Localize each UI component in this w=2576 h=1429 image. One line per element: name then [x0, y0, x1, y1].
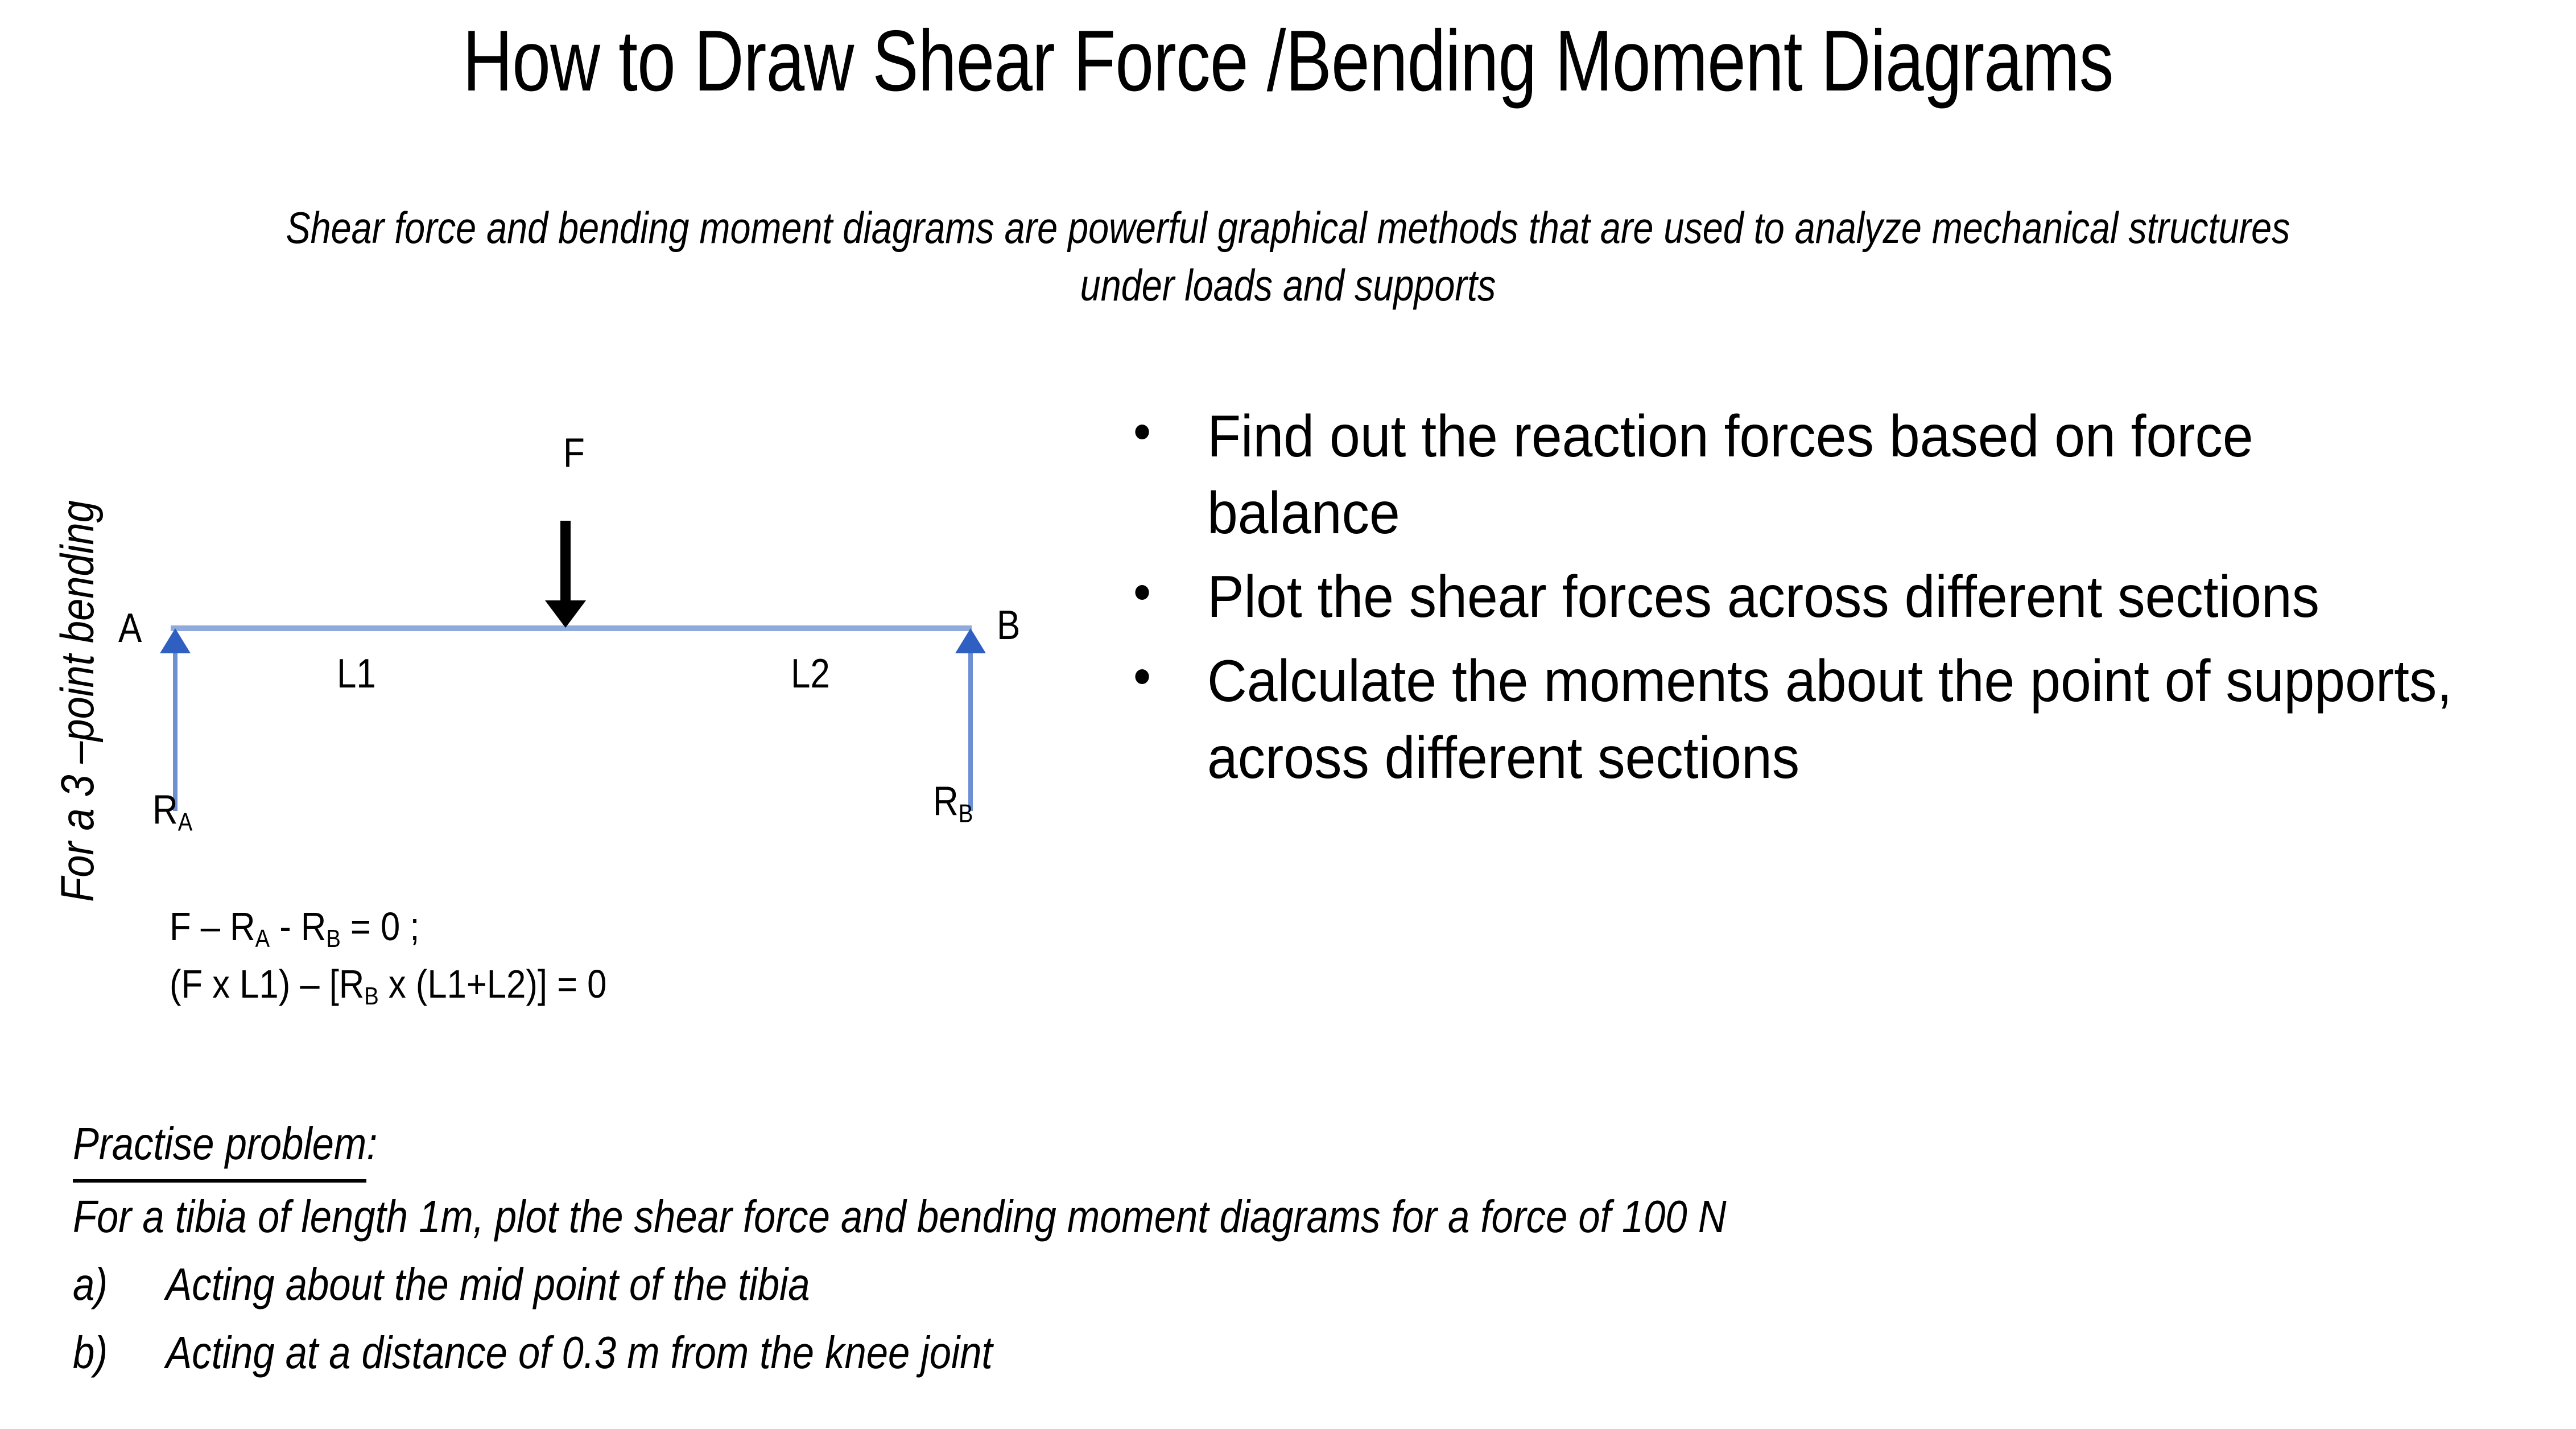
support-b-label: B — [997, 605, 1020, 646]
reaction-a-label: RA — [152, 789, 192, 835]
force-arrow-head-icon — [545, 600, 586, 628]
practise-problem-item-b: b) Acting at a distance of 0.3 m from th… — [73, 1319, 2177, 1386]
slide-canvas: How to Draw Shear Force /Bending Moment … — [0, 0, 2576, 1429]
beam-diagram: F A B L1 L2 RA RB — [0, 0, 1081, 1053]
reaction-b-label-sub: B — [959, 800, 973, 827]
reaction-a-label-sub: A — [178, 808, 193, 836]
equation-2-sub-1: B — [364, 983, 378, 1010]
force-label: F — [563, 433, 585, 473]
practise-problem-heading-colon: : — [366, 1118, 377, 1169]
list-item-label: Find out the reaction forces based on fo… — [1207, 403, 2253, 546]
reaction-b-label: RB — [933, 781, 973, 827]
force-arrow-shaft-icon — [560, 521, 571, 606]
practise-problem-heading-row: Practise problem: — [73, 1110, 2177, 1183]
equation-1-sub-2: B — [326, 925, 340, 953]
list-item: Find out the reaction forces based on fo… — [1124, 398, 2457, 552]
bullet-dot-icon — [1135, 585, 1149, 600]
equation-1-part-3: = 0 ; — [341, 904, 420, 949]
practise-problem-item-a: a) Acting about the mid point of the tib… — [73, 1250, 2177, 1318]
practise-problem-item-b-marker: b) — [73, 1319, 108, 1386]
reaction-b-arrow-head-icon — [955, 628, 986, 653]
steps-bullet-list: Find out the reaction forces based on fo… — [1124, 398, 2557, 804]
reaction-a-label-main: R — [152, 787, 178, 833]
segment-l2-label: L2 — [791, 653, 830, 694]
segment-l1-label: L1 — [337, 653, 376, 694]
equation-force-balance: F – RA - RB = 0 ; — [170, 899, 606, 957]
equation-2-part-1: (F x L1) – [R — [170, 962, 364, 1006]
support-a-label: A — [118, 608, 142, 649]
reaction-a-arrow-head-icon — [160, 628, 191, 653]
practise-problem-heading: Practise problem — [73, 1110, 366, 1183]
equation-1-sub-1: A — [255, 925, 270, 953]
practise-problem-item-b-label: Acting at a distance of 0.3 m from the k… — [166, 1327, 992, 1378]
list-item-label: Plot the shear forces across different s… — [1207, 564, 2319, 630]
equation-moment-balance: (F x L1) – [RB x (L1+L2)] = 0 — [170, 957, 606, 1014]
list-item: Plot the shear forces across different s… — [1124, 559, 2457, 636]
practise-problem-item-a-label: Acting about the mid point of the tibia — [166, 1259, 810, 1309]
equation-2-part-2: x (L1+L2)] = 0 — [379, 962, 607, 1006]
list-item: Calculate the moments about the point of… — [1124, 643, 2457, 797]
equation-1-part-2: - R — [270, 904, 326, 949]
bullet-dot-icon — [1135, 669, 1149, 684]
practise-problem-section: Practise problem: For a tibia of length … — [73, 1110, 2177, 1386]
reaction-b-label-main: R — [933, 779, 959, 824]
bullet-dot-icon — [1135, 425, 1149, 439]
equilibrium-equations: F – RA - RB = 0 ; (F x L1) – [RB x (L1+L… — [170, 899, 606, 1014]
equation-1-part-1: F – R — [170, 904, 255, 949]
practise-problem-intro: For a tibia of length 1m, plot the shear… — [73, 1183, 2177, 1250]
practise-problem-item-a-marker: a) — [73, 1250, 108, 1318]
list-item-label: Calculate the moments about the point of… — [1207, 648, 2452, 791]
